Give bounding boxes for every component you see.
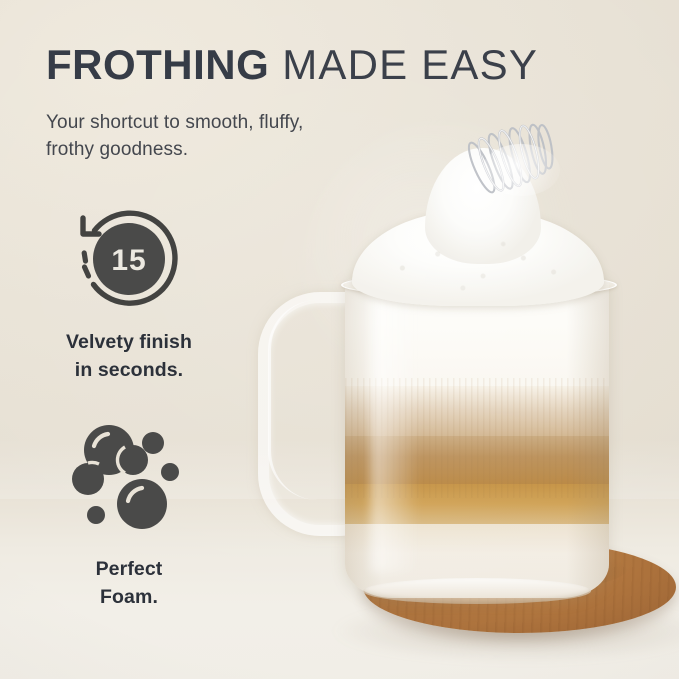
subtitle-line-1: Your shortcut to smooth, fluffy, <box>46 110 303 137</box>
feature-caption: Velvety finish in seconds. <box>34 328 224 385</box>
feature-caption: Perfect Foam. <box>34 555 224 612</box>
mug-glass-body <box>345 278 609 598</box>
feature-icon-wrapper: 15 <box>34 196 224 321</box>
feature-caption-line-2: Foam. <box>34 583 224 611</box>
glass-latte-mug <box>345 278 609 598</box>
feature-caption-line-1: Perfect <box>34 555 224 583</box>
whisk-foam-residue <box>482 144 560 196</box>
headline-strong: FROTHING <box>46 41 269 88</box>
feature-perfect-foam: Perfect Foam. <box>34 418 224 612</box>
mug-base <box>363 578 591 604</box>
foam-bubble-texture <box>352 206 604 306</box>
milk-foam-dome <box>352 196 604 306</box>
feature-caption-line-1: Velvety finish <box>34 328 224 356</box>
feature-icon-wrapper <box>34 418 224 543</box>
promo-image-canvas: FROTHING MADE EASY Your shortcut to smoo… <box>0 0 679 679</box>
mug-glass-sheen <box>371 292 419 572</box>
subtitle-line-2: frothy goodness. <box>46 137 303 164</box>
timer-badge-value: 15 <box>111 244 146 277</box>
page-subtitle: Your shortcut to smooth, fluffy, frothy … <box>46 110 303 164</box>
page-title: FROTHING MADE EASY <box>46 44 538 86</box>
timer-15-seconds-icon: 15 <box>70 200 188 318</box>
foam-bubbles-icon <box>68 422 190 540</box>
headline-light: MADE EASY <box>282 41 538 88</box>
feature-caption-line-2: in seconds. <box>34 356 224 384</box>
milk-frother-whisk <box>498 0 679 180</box>
feature-velvety-finish: 15 Velvety finish in seconds. <box>34 196 224 385</box>
